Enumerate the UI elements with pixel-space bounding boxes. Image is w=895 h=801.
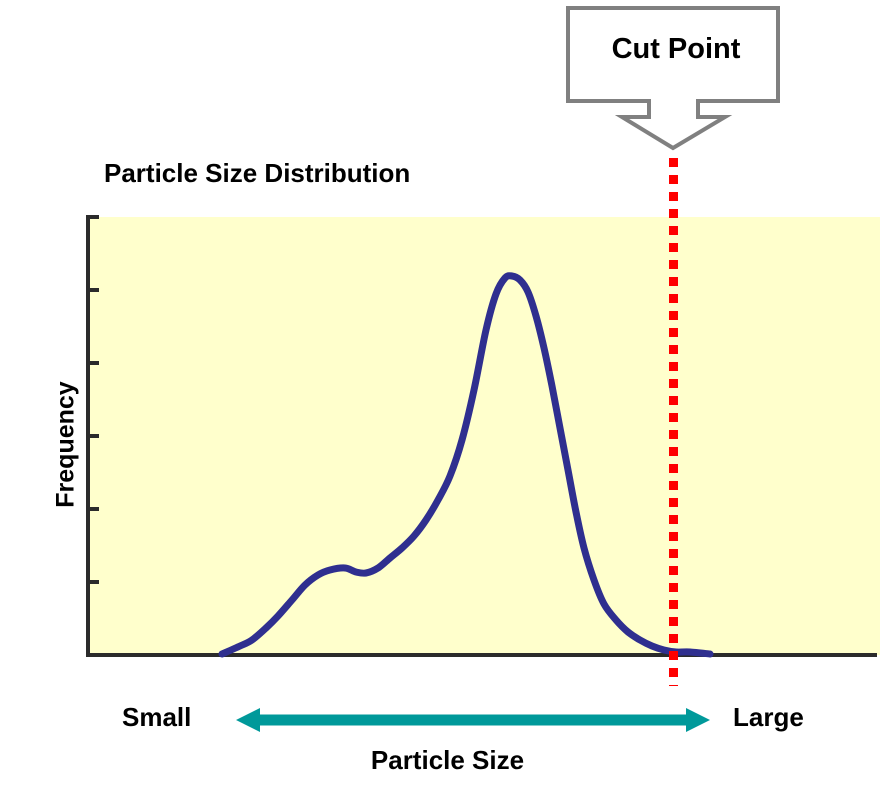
x-axis-title: Particle Size — [0, 745, 895, 776]
plot-area-background — [89, 217, 880, 655]
y-axis-tick — [90, 580, 99, 584]
chart-title: Particle Size Distribution — [104, 158, 410, 189]
particle-size-arrow-icon — [236, 704, 710, 736]
y-axis-tick — [90, 507, 99, 511]
chart-canvas: Cut Point Particle Size Distribution Fre… — [0, 0, 895, 801]
callout-arrow-shape — [560, 0, 790, 160]
y-axis-tick — [90, 434, 99, 438]
x-axis-max-label: Large — [733, 702, 804, 733]
y-axis-tick — [90, 361, 99, 365]
cut-point-callout[interactable]: Cut Point — [560, 0, 790, 160]
x-axis-min-label: Small — [122, 702, 191, 733]
y-axis-title: Frequency — [52, 345, 81, 545]
y-axis-tick — [90, 215, 99, 219]
cut-point-line — [669, 158, 678, 686]
x-axis-line — [86, 653, 877, 657]
cut-point-label: Cut Point — [567, 32, 785, 66]
y-axis-tick — [90, 288, 99, 292]
